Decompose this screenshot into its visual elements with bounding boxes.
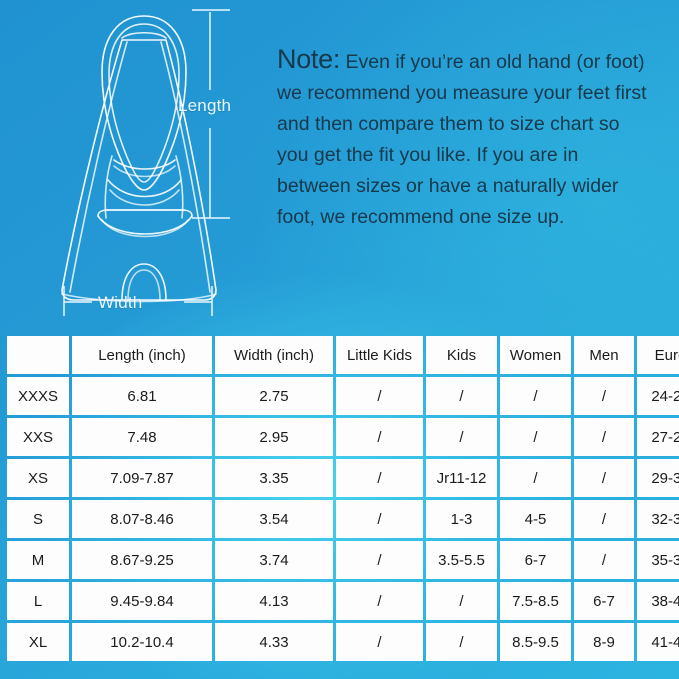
table-header-cell-men: Men <box>574 336 634 374</box>
size-label-cell: XXXS <box>7 377 69 415</box>
table-header-cell-length-inch: Length (inch) <box>72 336 212 374</box>
table-cell: / <box>336 623 423 661</box>
note-lead-label: Note: <box>277 44 340 74</box>
table-cell: 7.48 <box>72 418 212 456</box>
table-cell: 3.74 <box>215 541 333 579</box>
table-row: M8.67-9.253.74/3.5-5.56-7/35-37 <box>7 541 679 579</box>
table-cell: / <box>336 500 423 538</box>
table-cell: 2.95 <box>215 418 333 456</box>
table-row: S8.07-8.463.54/1-34-5/32-34 <box>7 500 679 538</box>
swim-fin-diagram-icon <box>34 4 284 324</box>
table-cell: / <box>500 377 571 415</box>
table-cell: 4.33 <box>215 623 333 661</box>
table-cell: 24-26 <box>637 377 679 415</box>
size-chart-page: Length Width Note: Even if you’re an old… <box>0 0 679 679</box>
table-cell: / <box>574 459 634 497</box>
table-cell: / <box>500 418 571 456</box>
table-cell: 4-5 <box>500 500 571 538</box>
table-cell: / <box>574 377 634 415</box>
size-label-cell: XS <box>7 459 69 497</box>
table-cell: / <box>336 582 423 620</box>
table-cell: 1-3 <box>426 500 497 538</box>
table-cell: 4.13 <box>215 582 333 620</box>
table-cell: 9.45-9.84 <box>72 582 212 620</box>
table-cell: 8.07-8.46 <box>72 500 212 538</box>
table-cell: / <box>574 418 634 456</box>
table-cell: 2.75 <box>215 377 333 415</box>
width-dimension-label: Width <box>98 293 142 313</box>
table-cell: 6-7 <box>500 541 571 579</box>
table-header-cell-width-inch: Width (inch) <box>215 336 333 374</box>
table-header-row: Length (inch)Width (inch)Little KidsKids… <box>7 336 679 374</box>
table-cell: 8-9 <box>574 623 634 661</box>
table-cell: / <box>426 623 497 661</box>
table-cell: / <box>574 541 634 579</box>
table-cell: / <box>426 418 497 456</box>
table-cell: 3.54 <box>215 500 333 538</box>
table-row: L9.45-9.844.13//7.5-8.56-738-40 <box>7 582 679 620</box>
table-cell: 41-43 <box>637 623 679 661</box>
table-cell: 8.67-9.25 <box>72 541 212 579</box>
table-cell: 6-7 <box>574 582 634 620</box>
table-cell: 7.09-7.87 <box>72 459 212 497</box>
size-label-cell: XXS <box>7 418 69 456</box>
table-cell: 27-29 <box>637 418 679 456</box>
table-cell: 7.5-8.5 <box>500 582 571 620</box>
fin-illustration-panel: Length Width Note: Even if you’re an old… <box>0 0 679 333</box>
table-row: XS7.09-7.873.35/Jr11-12//29-31 <box>7 459 679 497</box>
table-cell: / <box>426 377 497 415</box>
table-cell: / <box>336 541 423 579</box>
table-cell: / <box>336 418 423 456</box>
table-row: XXS7.482.95////27-29 <box>7 418 679 456</box>
length-dimension-label: Length <box>178 96 231 116</box>
table-cell: 6.81 <box>72 377 212 415</box>
table-cell: / <box>336 377 423 415</box>
table-header-cell-little-kids: Little Kids <box>336 336 423 374</box>
table-cell: / <box>500 459 571 497</box>
table-row: XXXS6.812.75////24-26 <box>7 377 679 415</box>
table-header-cell-kids: Kids <box>426 336 497 374</box>
table-cell: 3.35 <box>215 459 333 497</box>
size-label-cell: M <box>7 541 69 579</box>
table-cell: 8.5-9.5 <box>500 623 571 661</box>
table-header-cell-euro: Euro <box>637 336 679 374</box>
table-header-cell-women: Women <box>500 336 571 374</box>
size-chart-table: Length (inch)Width (inch)Little KidsKids… <box>4 333 679 664</box>
note-text-block: Note: Even if you’re an old hand (or foo… <box>277 44 649 233</box>
table-cell: 35-37 <box>637 541 679 579</box>
size-label-cell: L <box>7 582 69 620</box>
table-cell: / <box>336 459 423 497</box>
note-body-text: Even if you’re an old hand (or foot) we … <box>277 51 647 228</box>
table-cell: 32-34 <box>637 500 679 538</box>
table-header-cell-size <box>7 336 69 374</box>
table-body: XXXS6.812.75////24-26XXS7.482.95////27-2… <box>7 377 679 661</box>
size-label-cell: S <box>7 500 69 538</box>
table-row: XL10.2-10.44.33//8.5-9.58-941-43 <box>7 623 679 661</box>
table-cell: Jr11-12 <box>426 459 497 497</box>
table-cell: 10.2-10.4 <box>72 623 212 661</box>
table-cell: 29-31 <box>637 459 679 497</box>
table-cell: / <box>574 500 634 538</box>
size-label-cell: XL <box>7 623 69 661</box>
table-cell: / <box>426 582 497 620</box>
table-cell: 38-40 <box>637 582 679 620</box>
table-cell: 3.5-5.5 <box>426 541 497 579</box>
